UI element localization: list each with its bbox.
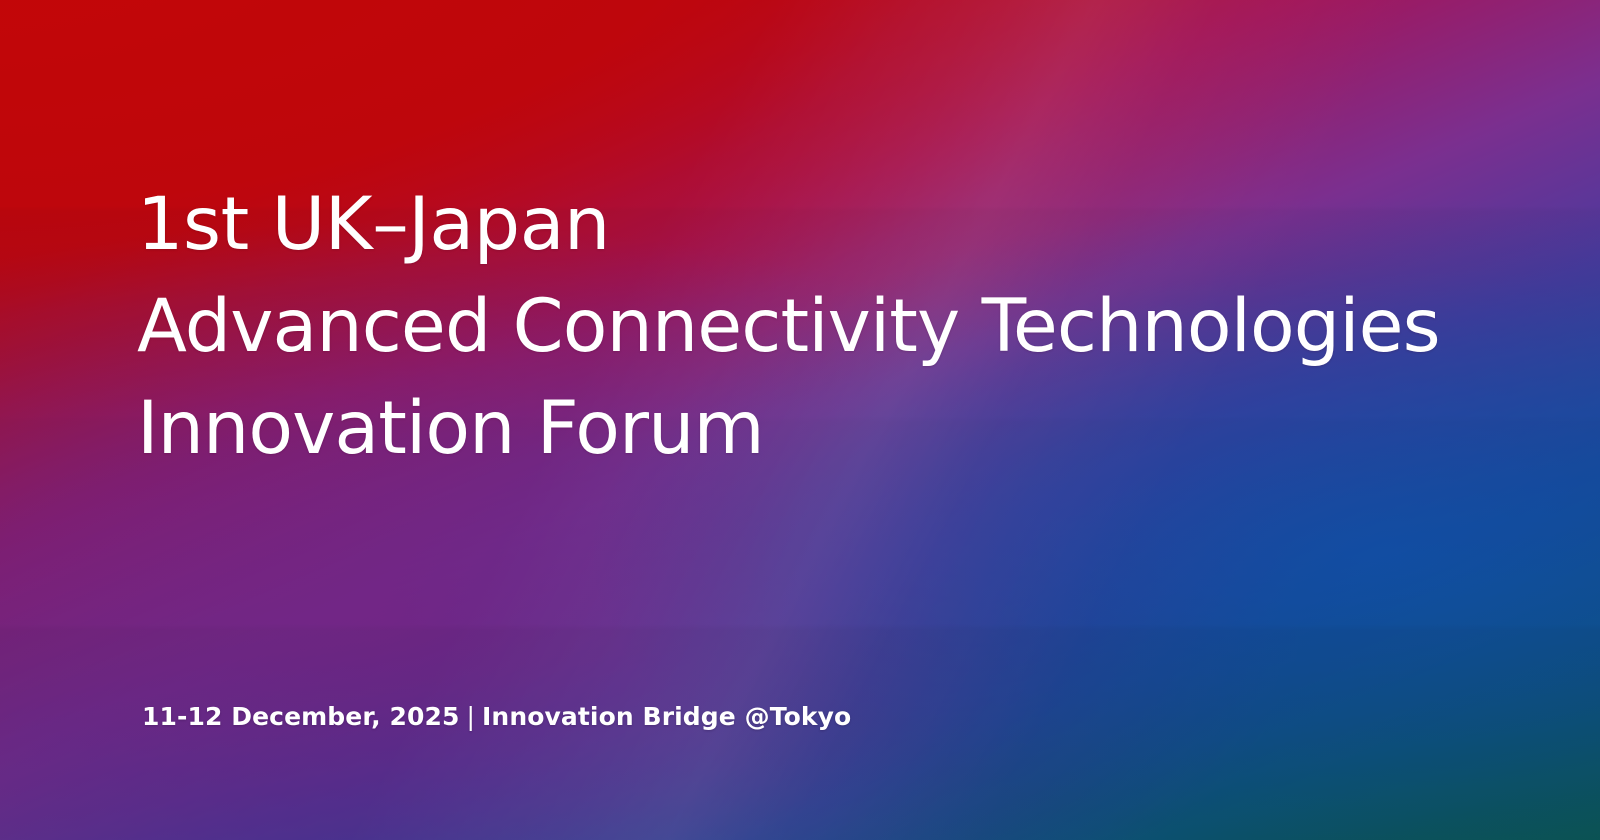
event-details: 11-12 December, 2025|Innovation Bridge @… — [142, 700, 851, 734]
event-title-line-2: Advanced Connectivity Technologies — [137, 276, 1497, 378]
event-title-line-1: 1st UK–Japan — [137, 174, 1497, 276]
event-venue: Innovation Bridge @Tokyo — [482, 702, 851, 731]
event-title: 1st UK–Japan Advanced Connectivity Techn… — [137, 174, 1497, 480]
event-title-line-3: Innovation Forum — [137, 378, 1497, 480]
event-title-banner: 1st UK–Japan Advanced Connectivity Techn… — [0, 0, 1600, 840]
detail-separator: | — [459, 700, 482, 734]
event-dates: 11-12 December, 2025 — [142, 702, 459, 731]
banner-content: 1st UK–Japan Advanced Connectivity Techn… — [0, 0, 1600, 840]
